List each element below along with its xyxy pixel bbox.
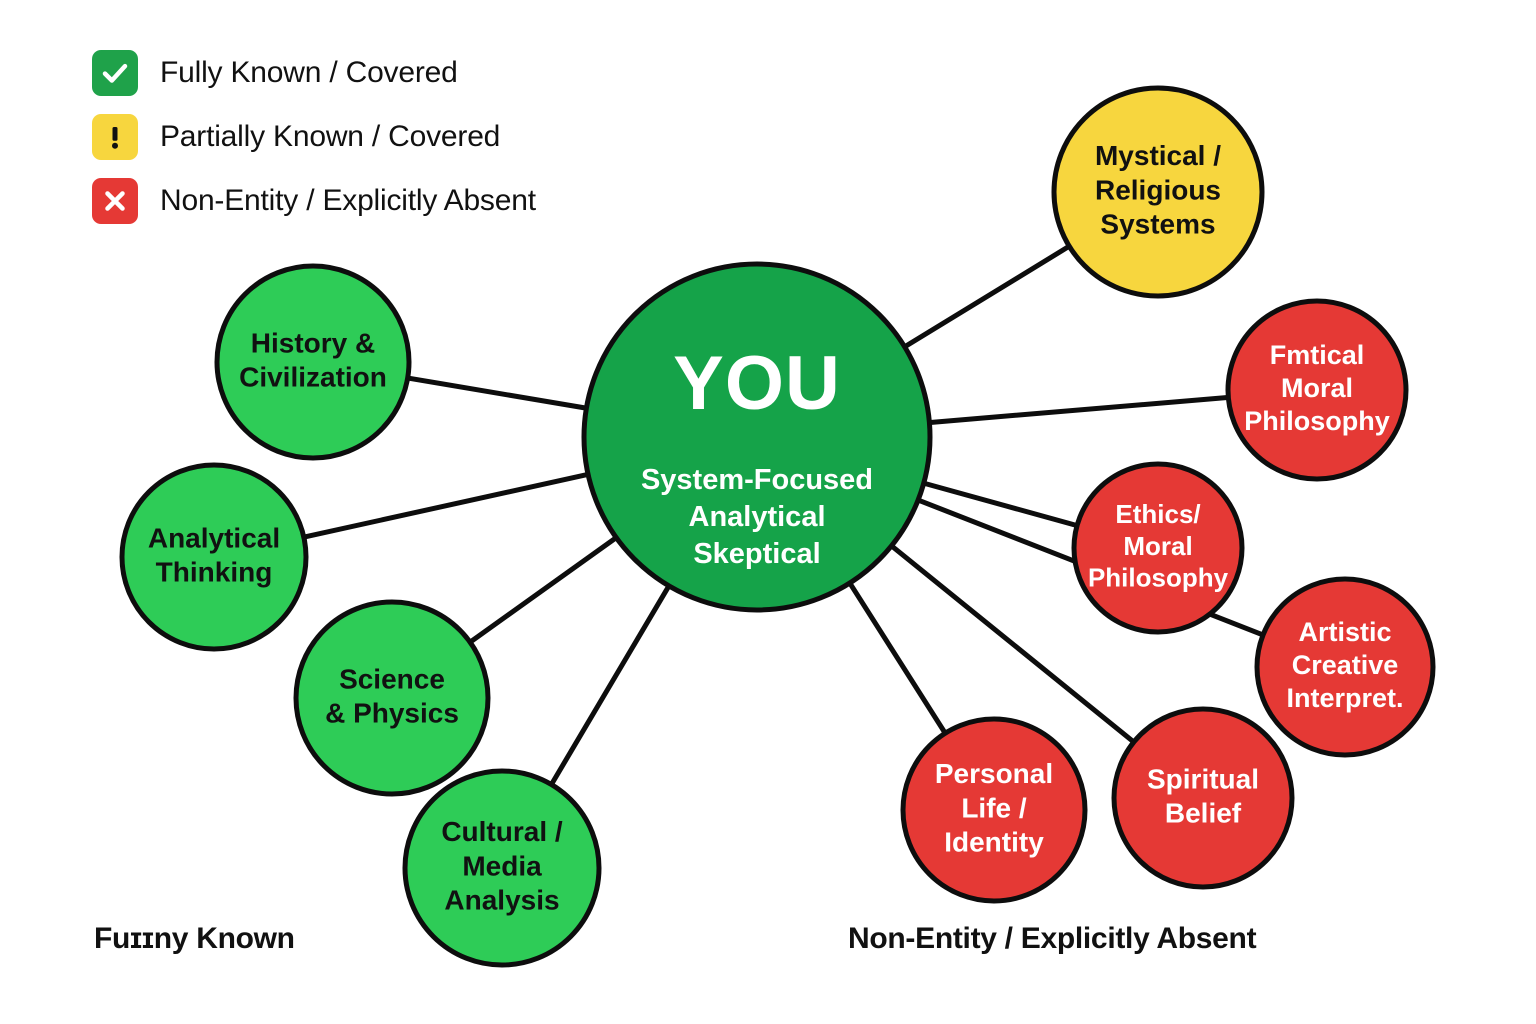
node-artistic-creative-interpret[interactable]: ArtisticCreativeInterpret. xyxy=(1257,579,1433,755)
node-label-mystical-religious-systems: Religious xyxy=(1095,174,1221,205)
edge-hub-to-history-civilization xyxy=(406,378,589,409)
check-icon xyxy=(92,50,138,96)
node-label-artistic-creative-interpret: Artistic xyxy=(1298,617,1391,647)
node-label-cultural-media-analysis: Media xyxy=(462,850,542,881)
edge-hub-to-personal-life-identity xyxy=(849,581,947,735)
node-label-ethics-moral-philosophy: Philosophy xyxy=(1088,563,1229,593)
node-label-history-civilization: History & xyxy=(251,327,375,358)
node-label-fmtical-moral-philosophy: Fmtical xyxy=(1270,340,1365,370)
node-label-cultural-media-analysis: Analysis xyxy=(444,885,559,916)
node-label-artistic-creative-interpret: Creative xyxy=(1292,650,1399,680)
node-label-mystical-religious-systems: Systems xyxy=(1100,209,1215,240)
node-label-spiritual-belief: Spiritual xyxy=(1147,763,1259,794)
node-fmtical-moral-philosophy[interactable]: FmticalMoralPhilosophy xyxy=(1228,301,1406,479)
node-label-ethics-moral-philosophy: Moral xyxy=(1123,531,1192,561)
edge-hub-to-cultural-media-analysis xyxy=(550,584,670,786)
node-label-analytical-thinking: Analytical xyxy=(148,522,280,553)
node-personal-life-identity[interactable]: PersonalLife /Identity xyxy=(903,719,1085,901)
legend: Fully Known / CoveredPartially Known / C… xyxy=(92,50,536,224)
legend-item-cross: Non-Entity / Explicitly Absent xyxy=(92,178,536,224)
legend-item-exclamation: Partially Known / Covered xyxy=(92,114,536,160)
node-label-personal-life-identity: Life / xyxy=(961,792,1027,823)
node-label-personal-life-identity: Identity xyxy=(944,827,1044,858)
edge-hub-to-analytical-thinking xyxy=(302,474,590,538)
exclamation-icon xyxy=(92,114,138,160)
node-label-ethics-moral-philosophy: Ethics/ xyxy=(1115,499,1200,529)
edge-hub-to-ethics-moral-philosophy xyxy=(922,483,1079,527)
legend-item-label: Non-Entity / Explicitly Absent xyxy=(160,184,536,218)
node-mystical-religious-systems[interactable]: Mystical /ReligiousSystems xyxy=(1054,88,1262,296)
edge-hub-to-mystical-religious-systems xyxy=(903,245,1071,348)
node-label-cultural-media-analysis: Cultural / xyxy=(441,816,563,847)
node-label-science-physics: Science xyxy=(339,663,445,694)
cross-icon xyxy=(92,178,138,224)
node-hub-you[interactable]: YOUSystem-FocusedAnalyticalSkeptical xyxy=(584,264,930,610)
node-label-fmtical-moral-philosophy: Philosophy xyxy=(1244,406,1390,436)
caption-non-entity: Non-Entity / Explicitly Absent xyxy=(848,922,1256,956)
node-label-fmtical-moral-philosophy: Moral xyxy=(1281,373,1353,403)
node-history-civilization[interactable]: History &Civilization xyxy=(217,266,409,458)
hub-subtitle-line: Skeptical xyxy=(693,538,820,570)
legend-item-label: Fully Known / Covered xyxy=(160,56,458,90)
node-label-spiritual-belief: Belief xyxy=(1165,797,1242,828)
hub-subtitle-line: System-Focused xyxy=(641,464,873,496)
node-label-personal-life-identity: Personal xyxy=(935,758,1053,789)
edge-hub-to-fmtical-moral-philosophy xyxy=(927,397,1230,422)
node-spiritual-belief[interactable]: SpiritualBelief xyxy=(1114,709,1292,887)
node-ethics-moral-philosophy[interactable]: Ethics/MoralPhilosophy xyxy=(1074,464,1242,632)
node-cultural-media-analysis[interactable]: Cultural /MediaAnalysis xyxy=(405,771,599,965)
node-analytical-thinking[interactable]: AnalyticalThinking xyxy=(122,465,306,649)
node-label-science-physics: & Physics xyxy=(325,697,459,728)
hub-subtitle-line: Analytical xyxy=(689,501,826,533)
hub-title: YOU xyxy=(673,341,841,426)
node-label-history-civilization: Civilization xyxy=(239,361,387,392)
node-label-analytical-thinking: Thinking xyxy=(156,556,273,587)
legend-item-check: Fully Known / Covered xyxy=(92,50,536,96)
node-science-physics[interactable]: Science& Physics xyxy=(296,602,488,794)
node-label-artistic-creative-interpret: Interpret. xyxy=(1286,683,1403,713)
node-label-mystical-religious-systems: Mystical / xyxy=(1095,140,1221,171)
caption-fully-known: Fuɪɪny Known xyxy=(94,922,295,956)
legend-item-label: Partially Known / Covered xyxy=(160,120,500,154)
edge-hub-to-science-physics xyxy=(468,536,617,643)
